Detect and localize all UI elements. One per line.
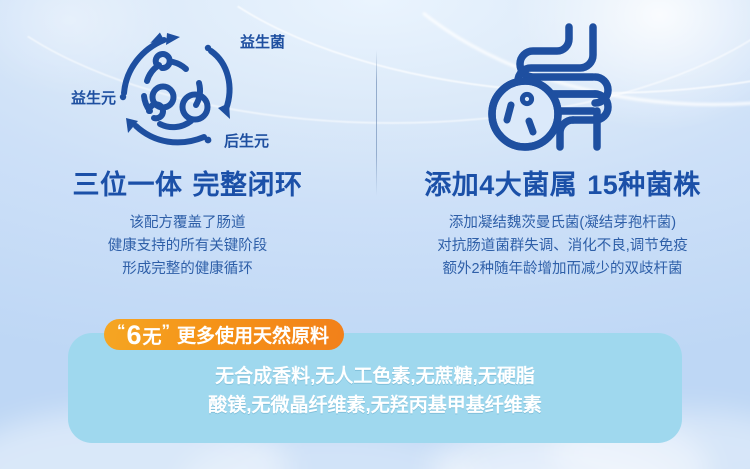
badge-number: 6 — [127, 322, 142, 349]
panel-body-strains-line-3: 额外2种随年龄增加而减少的双歧杆菌 — [437, 258, 688, 281]
intestine-bacteria-icon — [473, 11, 653, 161]
free-from-list: 无合成香料,无人工色素,无蔗糖,无硬脂 酸镁,无微晶纤维素,无羟丙基甲基纤维素 — [68, 363, 682, 421]
intestine-bacteria-icon-wrap — [375, 0, 750, 172]
cycle-label-prebiotic: 益生元 — [71, 89, 116, 107]
badge-quote-open: “ — [117, 322, 126, 339]
panel-body-cycle-line-1: 该配方覆盖了肠道 — [108, 212, 268, 235]
panel-heading-strains: 添加4大菌属15种菌株 — [424, 172, 701, 199]
feature-columns: 益生菌 益生元 后生元 三位一体完整闭环 该配方覆盖了肠道 健康支持的所有关键阶… — [0, 0, 750, 320]
panel-heading-cycle-part2: 完整闭环 — [193, 170, 303, 200]
panel-heading-cycle-part1: 三位一体 — [73, 170, 183, 200]
cycle-label-postbiotic: 后生元 — [224, 132, 269, 150]
free-from-line-1: 无合成香料,无人工色素,无蔗糖,无硬脂 — [68, 363, 682, 392]
panel-body-cycle-line-2: 健康支持的所有关键阶段 — [108, 235, 268, 258]
probiotic-cycle-icon-wrap: 益生菌 益生元 后生元 — [0, 0, 375, 172]
panel-heading-strains-part1: 添加4大菌属 — [424, 170, 577, 200]
promo-banner: 益生菌 益生元 后生元 三位一体完整闭环 该配方覆盖了肠道 健康支持的所有关键阶… — [0, 0, 750, 469]
panel-body-cycle-line-3: 形成完整的健康循环 — [108, 258, 268, 281]
cycle-label-probiotic: 益生菌 — [240, 33, 285, 51]
free-from-line-2: 酸镁,无微晶纤维素,无羟丙基甲基纤维素 — [68, 392, 682, 421]
panel-body-cycle: 该配方覆盖了肠道 健康支持的所有关键阶段 形成完整的健康循环 — [108, 212, 268, 281]
probiotic-cycle-icon: 益生菌 益生元 后生元 — [68, 11, 308, 161]
panel-divider — [376, 50, 377, 196]
panel-body-strains-line-1: 添加凝结魏茨曼氏菌(凝结芽孢杆菌) — [437, 212, 688, 235]
free-from-card: “ 6 无 ” 更多使用天然原料 无合成香料,无人工色素,无蔗糖,无硬脂 酸镁,… — [68, 333, 682, 443]
cloud-wisp-5 — [440, 444, 680, 469]
panel-body-strains: 添加凝结魏茨曼氏菌(凝结芽孢杆菌) 对抗肠道菌群失调、消化不良,调节免疫 额外2… — [437, 212, 688, 281]
panel-heading-cycle: 三位一体完整闭环 — [73, 172, 303, 199]
badge-quote-close: ” — [162, 322, 171, 339]
panel-body-strains-line-2: 对抗肠道菌群失调、消化不良,调节免疫 — [437, 235, 688, 258]
feature-panel-cycle: 益生菌 益生元 后生元 三位一体完整闭环 该配方覆盖了肠道 健康支持的所有关键阶… — [0, 0, 375, 320]
six-free-badge: “ 6 无 ” 更多使用天然原料 — [104, 319, 344, 350]
badge-wu: 无 — [143, 328, 162, 347]
badge-tagline: 更多使用天然原料 — [177, 327, 329, 346]
feature-panel-strains: 添加4大菌属15种菌株 添加凝结魏茨曼氏菌(凝结芽孢杆菌) 对抗肠道菌群失调、消… — [375, 0, 750, 320]
panel-heading-strains-part2: 15种菌株 — [587, 170, 701, 200]
